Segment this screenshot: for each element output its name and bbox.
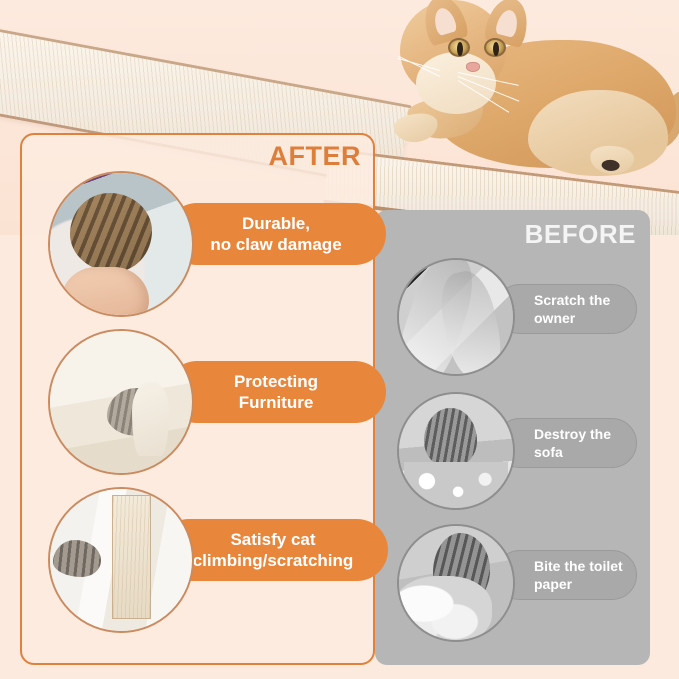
cat-head <box>400 0 506 98</box>
product-infographic: AFTER Durable, no claw damage Protecting… <box>0 0 679 679</box>
scratched-arm-image <box>399 260 513 374</box>
cat-on-cream-sofa-image <box>50 331 192 473</box>
after-item-3-line1: Satisfy cat <box>230 530 315 549</box>
cat-muzzle <box>416 52 496 114</box>
after-item-1-label: Durable, no claw damage <box>166 203 386 265</box>
before-item-1-line1: Scratch the <box>534 292 610 308</box>
cat-eye-right <box>484 38 506 57</box>
before-item-1: Scratch the owner <box>385 256 650 384</box>
after-item-1-line1: Durable, <box>242 214 310 233</box>
before-item-3-line1: Bite the toilet <box>534 558 623 574</box>
before-item-2-line2: sofa <box>534 444 563 460</box>
after-panel: AFTER Durable, no claw damage Protecting… <box>20 133 375 665</box>
before-item-1-photo <box>397 258 515 376</box>
after-item-3-line2: climbing/scratching <box>193 551 354 570</box>
cat-eye-left <box>448 38 470 57</box>
after-item-1-photo <box>48 171 194 317</box>
after-item-2-line1: Protecting <box>234 372 318 391</box>
before-item-3-photo <box>397 524 515 642</box>
after-item-2-label: Protecting Furniture <box>166 361 386 423</box>
cat-paw-on-hand-image <box>50 173 192 315</box>
after-item-3: Satisfy cat climbing/scratching <box>38 483 383 635</box>
after-item-2-line2: Furniture <box>239 393 314 412</box>
before-panel: BEFORE Scratch the owner Destroy the sof… <box>375 210 650 665</box>
before-item-1-line2: owner <box>534 310 575 326</box>
hero-cat-illustration <box>378 0 678 204</box>
before-item-2-photo <box>397 392 515 510</box>
cat-nose <box>466 62 480 72</box>
before-item-1-label: Scratch the owner <box>495 284 637 334</box>
cat-biting-toilet-paper-image <box>399 526 513 640</box>
before-item-3-label: Bite the toilet paper <box>495 550 637 600</box>
after-item-3-photo <box>48 487 194 633</box>
before-item-3-line2: paper <box>534 576 572 592</box>
before-item-2-line1: Destroy the <box>534 426 611 442</box>
before-panel-title: BEFORE <box>525 219 636 250</box>
cat-destroying-sofa-image <box>399 394 513 508</box>
after-item-1: Durable, no claw damage <box>38 167 383 319</box>
after-item-2: Protecting Furniture <box>38 325 383 477</box>
before-item-2-label: Destroy the sofa <box>495 418 637 468</box>
cat-on-door-scratch-board-image <box>50 489 192 631</box>
after-item-1-line2: no claw damage <box>210 235 341 254</box>
before-item-2: Destroy the sofa <box>385 390 650 518</box>
before-item-3: Bite the toilet paper <box>385 522 650 650</box>
cat-paw-front <box>392 111 439 145</box>
after-item-2-photo <box>48 329 194 475</box>
